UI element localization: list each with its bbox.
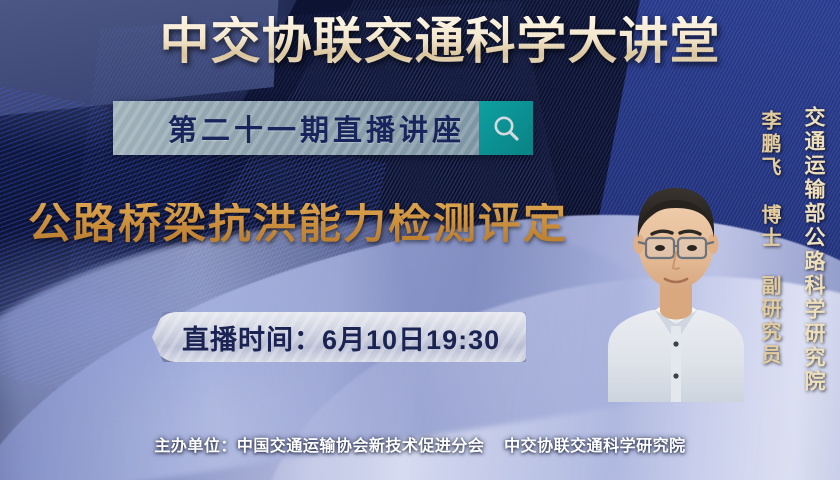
episode-banner-body: 第二十一期直播讲座	[113, 101, 479, 155]
search-icon	[479, 101, 533, 155]
speaker-name: 李鹏飞 博士 副研究员	[755, 110, 784, 367]
speaker-organization: 交通运输部公路科学研究院	[798, 106, 828, 394]
footer: 主办单位：中国交通运输协会新技术促进分会 中交协联交通科学研究院	[0, 432, 840, 456]
promo-poster: 中交协联交通科学大讲堂 第二十一期直播讲座 公路桥梁抗洪能力检测评定 直播时间：…	[0, 0, 840, 480]
episode-banner: 第二十一期直播讲座	[113, 101, 533, 155]
broadcast-time-badge: 直播时间：6月10日19:30	[152, 312, 526, 362]
broadcast-time-label: 直播时间：6月10日19:30	[182, 318, 500, 357]
lecture-headline: 公路桥梁抗洪能力检测评定	[28, 203, 568, 246]
episode-label: 第二十一期直播讲座	[168, 107, 465, 149]
search-icon-glyph	[491, 113, 521, 143]
speaker-portrait-illustration	[598, 130, 754, 402]
organizer-label: 主办单位：中国交通运输协会新技术促进分会 中交协联交通科学研究院	[154, 432, 685, 456]
speaker-portrait	[598, 130, 754, 402]
page-title: 中交协联交通科学大讲堂	[0, 16, 840, 66]
